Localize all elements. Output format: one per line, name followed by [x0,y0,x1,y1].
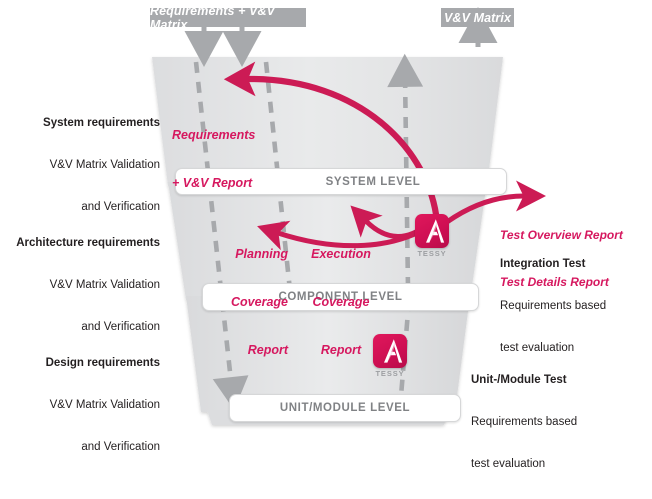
execution-coverage-report-line3: Report [300,342,382,358]
left-label-design-heading: Design requirements [8,356,160,370]
unit-module-test-line2: Requirements based [471,415,631,429]
execution-coverage-report-line1: Execution [300,246,382,262]
tessy-a-glyph-icon [415,214,449,248]
planning-coverage-report-line3: Report [206,342,288,358]
requirements-vv-report: Requirements + V&V Report [172,95,292,223]
system-level-label: SYSTEM LEVEL [326,176,421,188]
tessy-logo-unit[interactable]: TESSY [373,334,407,378]
left-label-architecture-line2: V&V Matrix Validation [2,278,160,292]
left-label-system-heading: System requirements [8,116,160,130]
requirements-vv-report-line1: Requirements [172,127,292,143]
planning-coverage-report-line1: Planning [206,246,288,262]
left-label-architecture-heading: Architecture requirements [2,236,160,250]
tessy-tile-icon [415,214,449,248]
requirements-vv-matrix-box[interactable]: Requirements + V&V Matrix [150,8,306,27]
unit-module-test-heading: Unit-/Module Test [471,373,631,387]
requirements-vv-report-line2: + V&V Report [172,175,292,191]
tessy-caption: TESSY [415,249,449,258]
vv-matrix-label: V&V Matrix [444,11,511,25]
planning-coverage-report: Planning Coverage Report [206,214,288,390]
unit-module-level-bar[interactable]: UNIT/MODULE LEVEL [229,394,461,422]
tessy-caption: TESSY [373,369,407,378]
tessy-a-glyph-icon [373,334,407,368]
left-label-design: Design requirements V&V Matrix Validatio… [8,328,160,482]
left-label-system-line2: V&V Matrix Validation [8,158,160,172]
planning-coverage-report-line2: Coverage [206,294,288,310]
requirements-vv-matrix-label: Requirements + V&V Matrix [150,4,306,32]
left-label-design-line3: and Verification [8,440,160,454]
tessy-logo-component[interactable]: TESSY [415,214,449,258]
integration-test-heading: Integration Test [500,257,650,271]
left-label-design-line2: V&V Matrix Validation [8,398,160,412]
unit-module-level-label: UNIT/MODULE LEVEL [280,402,410,414]
unit-module-test-line3: test evaluation [471,457,631,471]
vv-matrix-box[interactable]: V&V Matrix [441,8,514,27]
integration-test-line2: Requirements based [500,299,650,313]
execution-coverage-report: Execution Coverage Report [300,214,382,390]
execution-coverage-report-line2: Coverage [300,294,382,310]
unit-module-test-block: Unit-/Module Test Requirements based tes… [471,345,631,499]
diagram-canvas: Requirements + V&V Matrix V&V Matrix SYS… [0,0,652,442]
tessy-tile-icon [373,334,407,368]
